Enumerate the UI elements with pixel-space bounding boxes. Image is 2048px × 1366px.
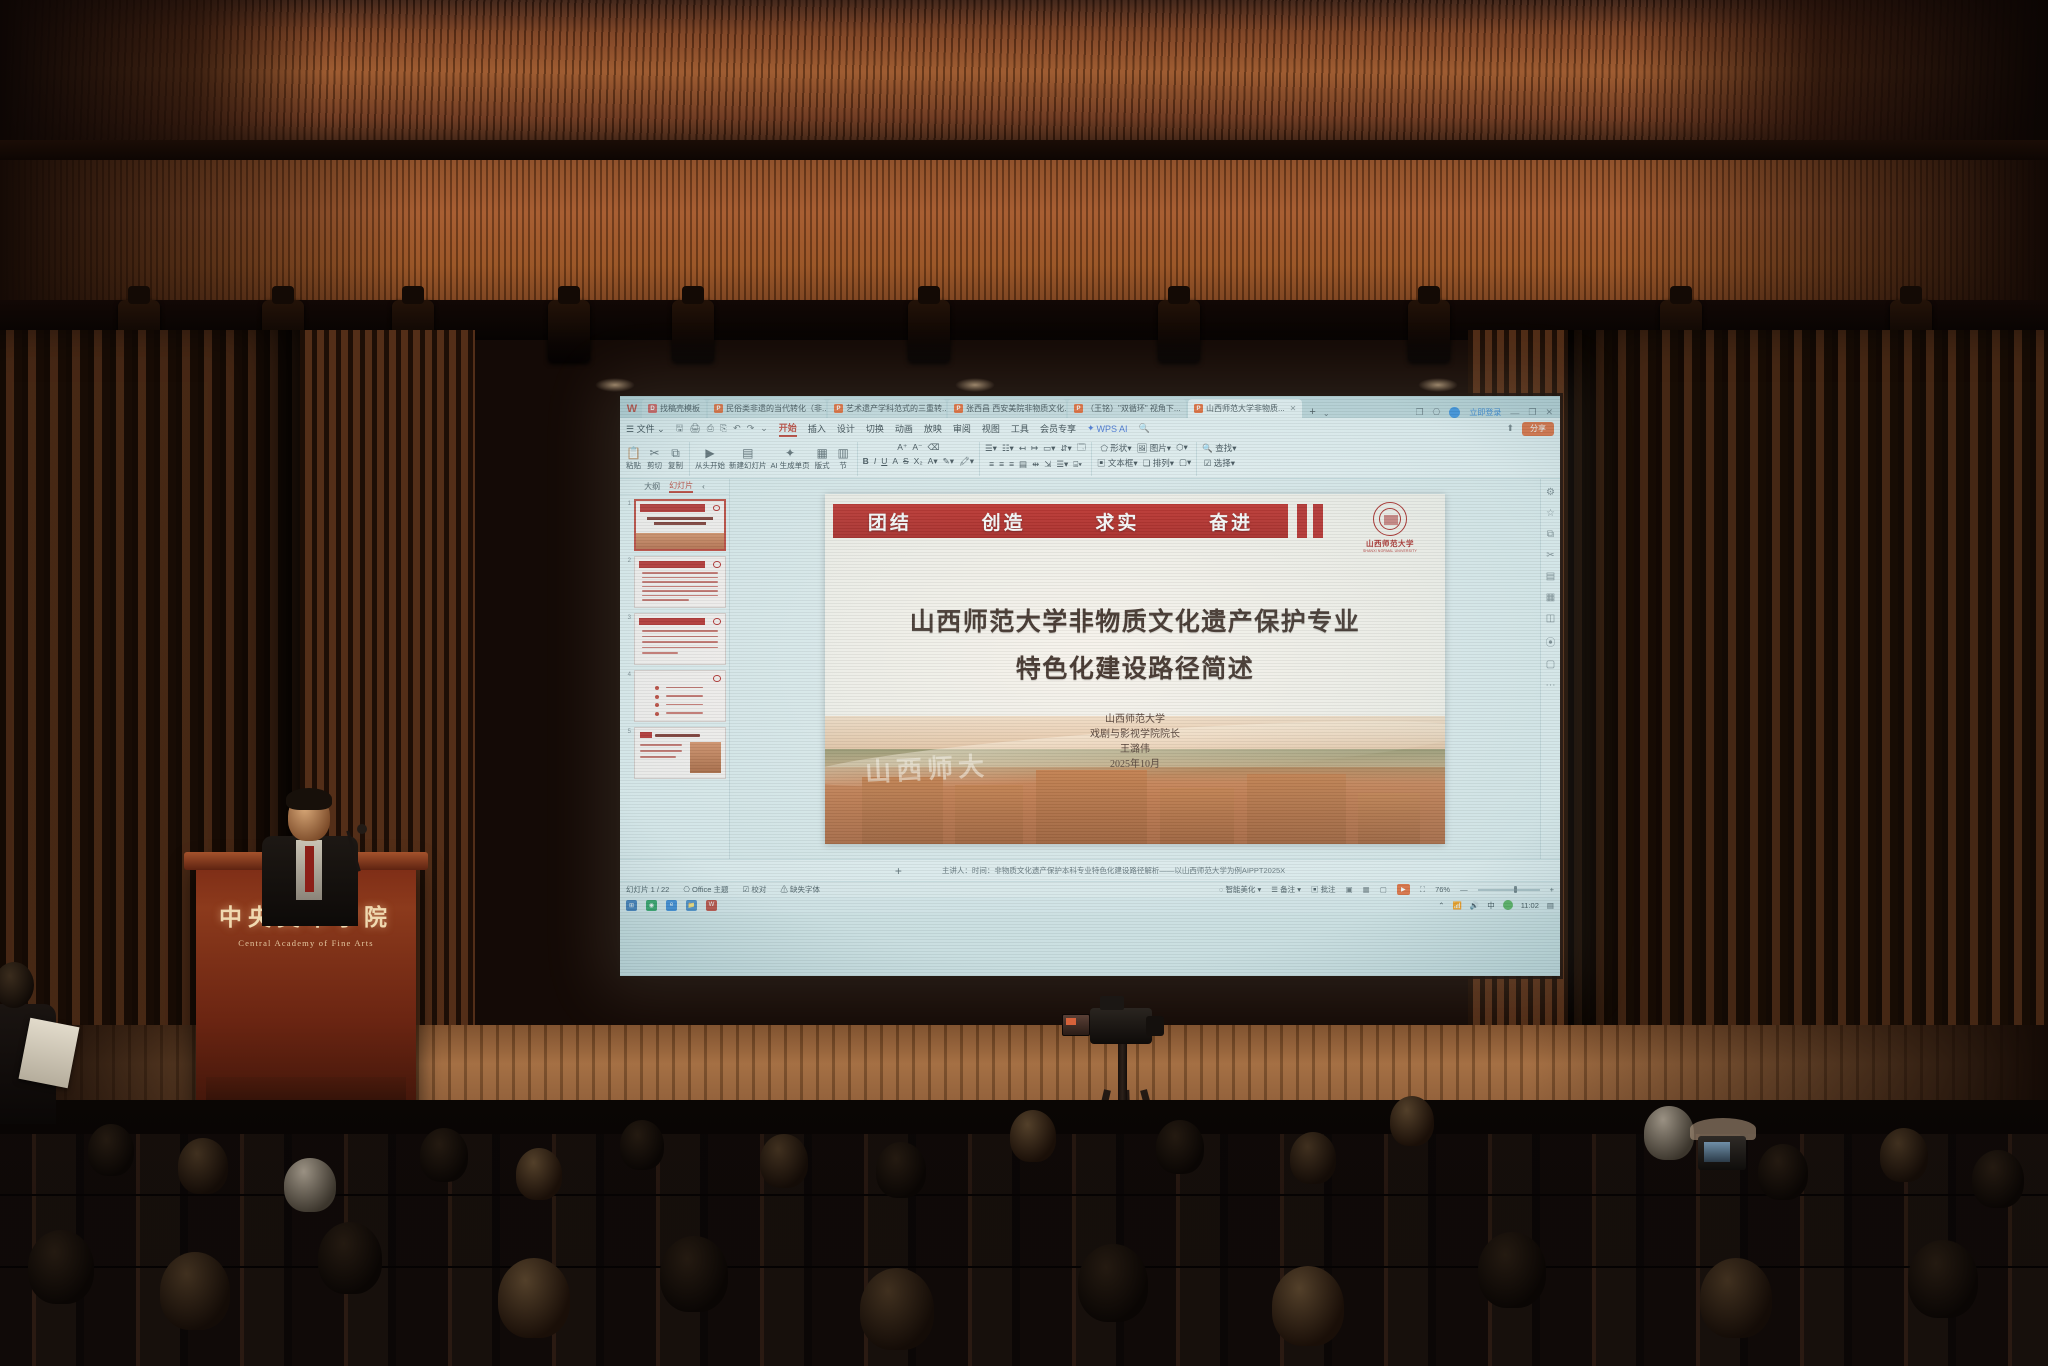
audience-head bbox=[516, 1148, 562, 1200]
notification-icon[interactable]: ▤ bbox=[1547, 901, 1554, 910]
thumb-banner bbox=[640, 504, 705, 511]
paste-icon: 📋 bbox=[626, 447, 641, 459]
textbox-label: 文本框 bbox=[1108, 458, 1134, 468]
audience-head bbox=[1290, 1132, 1336, 1184]
slide-thumbnail-3[interactable] bbox=[634, 613, 726, 665]
presentation-icon: P bbox=[954, 404, 963, 413]
layout-panel-icon[interactable]: ◫ bbox=[1546, 613, 1555, 624]
document-tab[interactable]: P 艺术遗产学科范式的三重转... bbox=[828, 399, 946, 418]
audience-head bbox=[318, 1222, 382, 1294]
reading-view-icon[interactable]: ▢ bbox=[1380, 885, 1387, 894]
columns-button[interactable]: ⇲ bbox=[1044, 459, 1051, 470]
audience-head bbox=[1972, 1150, 2024, 1208]
cut-button[interactable]: ✂ 剪切 bbox=[646, 447, 663, 471]
textbox-icon: ▣ bbox=[1097, 458, 1106, 468]
thumb-text-line bbox=[666, 695, 704, 697]
ai-generate-page-button[interactable]: ✦ AI 生成单页 bbox=[771, 447, 810, 471]
paste-label: 粘贴 bbox=[626, 460, 641, 471]
picture-label: 图片 bbox=[1150, 443, 1167, 453]
thumb-text-line bbox=[666, 687, 704, 689]
italic-button[interactable]: I bbox=[874, 456, 876, 466]
resource-icon[interactable]: ⧉ bbox=[1547, 529, 1554, 540]
tab-label: 民俗类非遗的当代转化（非... bbox=[726, 403, 826, 414]
save-icon[interactable]: 🖫 bbox=[676, 421, 684, 437]
smartart-button[interactable]: 🗔 bbox=[1077, 442, 1086, 456]
thumb-text-line bbox=[642, 647, 718, 649]
restore-window-icon[interactable]: ❐ bbox=[1415, 407, 1423, 418]
slide-thumbnail-1[interactable] bbox=[634, 499, 726, 551]
wifi-icon[interactable]: 📶 bbox=[1453, 901, 1462, 910]
audience-head bbox=[1272, 1266, 1344, 1346]
thumb-bullet bbox=[655, 712, 659, 716]
thumb-seal bbox=[713, 561, 721, 568]
thumb-text-line bbox=[642, 572, 718, 574]
slide-counter: 幻灯片 1 / 22 bbox=[626, 884, 669, 895]
stage-light bbox=[1408, 300, 1450, 362]
close-button[interactable]: ✕ bbox=[1545, 407, 1553, 418]
select-icon: ☑ bbox=[1204, 458, 1212, 468]
ai-sparkle-icon: ✦ bbox=[785, 447, 795, 459]
thumbnail-item[interactable]: 4 bbox=[623, 670, 726, 722]
menu-item-animation[interactable]: 动画 bbox=[895, 422, 913, 435]
start-icon[interactable]: ⊞ bbox=[626, 900, 637, 911]
tab-label: 艺术遗产学科范式的三重转... bbox=[846, 403, 946, 414]
seal-name: 山西师范大学 bbox=[1359, 538, 1421, 549]
thumb-text-line bbox=[640, 750, 681, 752]
document-tab[interactable]: P （王铭）"双循环" 视角下... bbox=[1068, 399, 1186, 418]
thumb-title-line bbox=[654, 522, 707, 525]
new-tab-button[interactable]: + bbox=[1304, 406, 1320, 418]
template-icon[interactable]: ▤ bbox=[1546, 571, 1555, 582]
play-slideshow-button[interactable]: ▶ bbox=[1397, 884, 1410, 895]
menu-item-insert[interactable]: 插入 bbox=[808, 422, 826, 435]
print-icon[interactable]: 🖨 bbox=[689, 423, 700, 434]
theme-label: Office 主题 bbox=[692, 885, 729, 894]
audience-head bbox=[160, 1252, 230, 1330]
title-line-1: 山西师范大学非物质文化遗产保护专业 bbox=[825, 602, 1445, 638]
align-left-button[interactable]: ≡ bbox=[989, 459, 994, 469]
stage-light bbox=[548, 300, 590, 362]
font-size-row: A⁺ A⁻ ⌫ bbox=[897, 442, 939, 453]
section-button[interactable]: ▥ 节 bbox=[835, 447, 852, 471]
tab-label: 山西师范大学非物质... bbox=[1206, 403, 1285, 414]
zoom-in-button[interactable]: + bbox=[1550, 885, 1554, 894]
seal-ring-icon bbox=[1373, 502, 1407, 536]
collapse-pane-icon[interactable]: ‹ bbox=[702, 482, 705, 491]
line-spacing-button[interactable]: ⇵▾ bbox=[1060, 443, 1071, 454]
presenter-block: 山西师范大学 戏剧与影视学院院长 王潞伟 2025年10月 bbox=[825, 712, 1445, 772]
thumb-bullet bbox=[655, 703, 659, 707]
find-button[interactable]: 🔍 查找▾ bbox=[1202, 442, 1236, 454]
insert-row-1: ⬠ 形状▾ 🖼 图片▾ ⬡▾ bbox=[1101, 442, 1188, 454]
spellcheck-indicator[interactable]: ☑ 校对 bbox=[743, 884, 767, 895]
light-glow bbox=[955, 378, 995, 392]
numbering-button[interactable]: ☷▾ bbox=[1002, 443, 1014, 454]
document-icon: D bbox=[648, 404, 657, 413]
stage-light bbox=[672, 300, 714, 362]
audience-head bbox=[1880, 1128, 1928, 1182]
notes-bar[interactable]: + 主讲人：时间：非物质文化遗产保护本科专业特色化建设路径解析——以山西师范大学… bbox=[620, 859, 1560, 881]
building-block bbox=[955, 785, 1023, 844]
find-label: 查找 bbox=[1215, 443, 1232, 453]
subscript-button[interactable]: X₂ bbox=[914, 456, 923, 466]
select-label: 选择 bbox=[1214, 458, 1231, 468]
stage-light bbox=[908, 300, 950, 362]
thumb-text-line bbox=[642, 636, 718, 638]
new-slide-button[interactable]: ▤ 新建幻灯片 bbox=[729, 447, 767, 471]
menu-item-view[interactable]: 视图 bbox=[982, 422, 1000, 435]
building-block bbox=[1247, 774, 1346, 844]
thumb-photo bbox=[690, 742, 721, 773]
highlight-button[interactable]: 🖍▾ bbox=[959, 456, 974, 467]
wps-presentation-window: W D 找稿壳模板 P 民俗类非遗的当代转化（非... P 艺术遗产学科范式的三… bbox=[620, 396, 1560, 976]
underline-button[interactable]: U bbox=[881, 456, 887, 466]
bullets-button[interactable]: ☰▾ bbox=[985, 443, 997, 454]
thumb-text-line bbox=[666, 712, 704, 714]
print-preview-icon[interactable]: ⎘ bbox=[720, 423, 727, 434]
zoom-slider[interactable] bbox=[1478, 889, 1540, 891]
fit-to-window-icon[interactable]: ⛶ bbox=[1420, 885, 1425, 895]
system-tray: ⌃ 📶 🔊 中 11:02 ▤ bbox=[1438, 900, 1554, 911]
motto-word-3: 求实 bbox=[1095, 508, 1139, 535]
thumbnail-item[interactable]: 1 bbox=[623, 499, 726, 551]
menu-item-review[interactable]: 审阅 bbox=[953, 422, 971, 435]
thumb-heading bbox=[655, 734, 700, 737]
slide-thumbnail-2[interactable] bbox=[634, 556, 726, 608]
light-glow bbox=[1418, 378, 1458, 392]
ribbon-group-slides: ▶ 从头开始 ▤ 新建幻灯片 ✦ AI 生成单页 ▦ 版式 bbox=[695, 442, 858, 476]
menu-item-tools[interactable]: 工具 bbox=[1011, 422, 1029, 435]
slide-thumbnail-5[interactable] bbox=[634, 727, 726, 779]
audience-head bbox=[28, 1230, 94, 1304]
document-tab[interactable]: P 张西昌 西安美院非物质文化... bbox=[948, 399, 1066, 418]
quick-access-toolbar: 🖫 🖨 ⎙ ⎘ ↶ ↷ ⌄ bbox=[676, 421, 768, 437]
clock[interactable]: 11:02 bbox=[1521, 901, 1539, 910]
minimize-button[interactable]: — bbox=[1510, 408, 1519, 418]
tripod-column bbox=[1118, 1040, 1127, 1102]
menu-file[interactable]: ☰ 文件 ⌄ bbox=[626, 422, 665, 435]
clear-format-icon[interactable]: ⌫ bbox=[928, 442, 940, 453]
explorer-icon[interactable]: 📁 bbox=[686, 900, 697, 911]
audience-head bbox=[88, 1124, 134, 1176]
copy-button[interactable]: ⧉ 复制 bbox=[667, 447, 684, 471]
text-shadow-button[interactable]: A bbox=[892, 456, 898, 466]
copy-icon: ⧉ bbox=[671, 447, 680, 459]
arrange-icon: ❏ bbox=[1143, 458, 1151, 468]
document-tab[interactable]: D 找稿壳模板 bbox=[642, 399, 706, 418]
section-icon: ▥ bbox=[838, 447, 849, 459]
slide-number: 2 bbox=[623, 556, 631, 564]
projection-screen: W D 找稿壳模板 P 民俗类非遗的当代转化（非... P 艺术遗产学科范式的三… bbox=[620, 396, 1560, 976]
chart-icon[interactable]: ▦ bbox=[1546, 592, 1555, 603]
tab-label: 张西昌 西安美院非物质文化... bbox=[966, 403, 1066, 414]
thumb-text-line bbox=[642, 599, 689, 601]
audience-head bbox=[1390, 1096, 1434, 1146]
increase-indent-button[interactable]: ↦ bbox=[1031, 443, 1038, 454]
tab-outline[interactable]: 大纲 bbox=[644, 481, 660, 492]
audience-head bbox=[1908, 1240, 1978, 1318]
slide-editing-area[interactable]: 团结 创造 求实 奋进 山西师范大学 SHANXI NORMAL bbox=[730, 479, 1540, 859]
titlebar-controls: ❐ ⎔ 立即登录 — ❐ ✕ bbox=[1415, 407, 1560, 418]
align-center-button[interactable]: ≡ bbox=[999, 459, 1004, 469]
ribbon-group-insert: ⬠ 形状▾ 🖼 图片▾ ⬡▾ ▣ 文本框▾ bbox=[1097, 442, 1197, 476]
arrange-label: 排列 bbox=[1153, 458, 1170, 468]
menu-item-design[interactable]: 设计 bbox=[837, 422, 855, 435]
redo-icon[interactable]: ↷ bbox=[747, 423, 755, 434]
window-tab-bar: W D 找稿壳模板 P 民俗类非遗的当代转化（非... P 艺术遗产学科范式的三… bbox=[620, 396, 1560, 418]
paragraph-row-1: ☰▾ ☷▾ ↤ ↦ ▭▾ ⇵▾ 🗔 bbox=[985, 442, 1086, 456]
slide-thumbnail-4[interactable] bbox=[634, 670, 726, 722]
distribute-button[interactable]: ⇹ bbox=[1032, 459, 1039, 470]
select-row: ☑ 选择▾ bbox=[1204, 457, 1235, 469]
settings-icon[interactable]: ⚙ bbox=[1546, 487, 1555, 498]
search-taskbar-icon[interactable]: ◉ bbox=[646, 900, 657, 911]
building-block bbox=[1160, 788, 1234, 844]
audience-head bbox=[620, 1120, 664, 1170]
decrease-indent-button[interactable]: ↤ bbox=[1019, 443, 1026, 454]
ribbon-group-clipboard: 📋 粘贴 ✂ 剪切 ⧉ 复制 bbox=[625, 442, 690, 476]
align-right-button[interactable]: ≡ bbox=[1009, 459, 1014, 469]
audience-head bbox=[1478, 1232, 1546, 1308]
thumb-text-line bbox=[642, 652, 678, 654]
chevron-down-icon[interactable]: ⌄ bbox=[1323, 409, 1330, 418]
icon-library-button[interactable]: ⬡▾ bbox=[1176, 442, 1188, 453]
motto-word-4: 奋进 bbox=[1209, 508, 1253, 535]
chevron-down-icon[interactable]: ⌄ bbox=[760, 423, 768, 434]
align-text-button[interactable]: ☰▾ bbox=[1056, 459, 1068, 470]
thumb-seal bbox=[713, 675, 721, 682]
wps-ai-label: WPS AI bbox=[1097, 424, 1128, 434]
audience-head bbox=[178, 1138, 228, 1194]
ceiling-shadow-right bbox=[1628, 0, 2048, 150]
notes-button[interactable]: ☰ 备注 ▾ bbox=[1271, 884, 1301, 895]
search-icon[interactable]: 🔍 bbox=[1139, 423, 1150, 434]
status-bar-right: ◌ 智能美化 ▾ ☰ 备注 ▾ ▣ 批注 ▣ ▦ ▢ ▶ ⛶ 76% — + bbox=[1219, 884, 1554, 895]
notes-label: 备注 bbox=[1280, 885, 1295, 894]
bold-button[interactable]: B bbox=[863, 456, 869, 466]
audience-head bbox=[860, 1268, 934, 1350]
shield-icon[interactable]: ⎔ bbox=[1433, 407, 1441, 418]
sparkle-icon: ✦ bbox=[1087, 423, 1095, 434]
spellcheck-label: 校对 bbox=[751, 885, 766, 894]
podium-sign-en: Central Academy of Fine Arts bbox=[216, 938, 396, 948]
accent-bar bbox=[1297, 504, 1307, 538]
thumb-tag bbox=[640, 732, 653, 738]
tab-label: （王铭）"双循环" 视角下... bbox=[1086, 403, 1181, 414]
thumb-text-line bbox=[642, 581, 718, 583]
presentation-icon: P bbox=[714, 404, 723, 413]
document-tab-active[interactable]: P 山西师范大学非物质... ✕ bbox=[1188, 399, 1302, 418]
audience-head bbox=[284, 1158, 336, 1212]
wps-ai-button[interactable]: ✦ WPS AI bbox=[1087, 423, 1128, 434]
beautify-button[interactable]: ◌ 智能美化 ▾ bbox=[1219, 884, 1261, 895]
current-slide[interactable]: 团结 创造 求实 奋进 山西师范大学 SHANXI NORMAL bbox=[825, 494, 1445, 844]
motto-word-1: 团结 bbox=[868, 508, 912, 535]
building-block bbox=[1358, 793, 1420, 844]
building-block bbox=[1036, 770, 1148, 844]
text-direction-button[interactable]: ▭▾ bbox=[1043, 443, 1055, 454]
video-camera-screen bbox=[1062, 1014, 1090, 1036]
audience-head bbox=[876, 1142, 926, 1198]
presentation-icon: P bbox=[1074, 404, 1083, 413]
favorite-icon[interactable]: ☆ bbox=[1546, 508, 1555, 519]
paste-button[interactable]: 📋 粘贴 bbox=[625, 447, 642, 471]
thumbnail-item[interactable]: 2 bbox=[623, 556, 726, 608]
select-button[interactable]: ☑ 选择▾ bbox=[1204, 457, 1235, 469]
cut-label: 剪切 bbox=[647, 460, 662, 471]
workspace: 大纲 幻灯片 ‹ 1 bbox=[620, 479, 1560, 859]
ceiling-shadow-left bbox=[0, 0, 330, 150]
thumb-text-line bbox=[640, 744, 681, 746]
increase-font-icon[interactable]: A⁺ bbox=[897, 442, 907, 453]
title-line-2: 特色化建设路径简述 bbox=[825, 649, 1445, 685]
menu-bar: ☰ 文件 ⌄ 🖫 🖨 ⎙ ⎘ ↶ ↷ ⌄ 开始 插入 设计 切换 动画 放映 审… bbox=[620, 418, 1560, 439]
audience-head bbox=[1700, 1258, 1772, 1338]
text-effect-button[interactable]: ✎▾ bbox=[943, 456, 954, 467]
layout-button[interactable]: ▦ 版式 bbox=[814, 447, 831, 471]
picture-icon: 🖼 bbox=[1137, 443, 1148, 453]
upload-icon[interactable]: ⬆ bbox=[1506, 423, 1514, 434]
export-pdf-icon[interactable]: ⎙ bbox=[707, 423, 714, 434]
normal-view-icon[interactable]: ▣ bbox=[1346, 885, 1353, 894]
slide-number: 4 bbox=[623, 670, 631, 678]
thumb-text-line bbox=[666, 704, 704, 706]
login-link[interactable]: 立即登录 bbox=[1469, 407, 1501, 418]
new-slide-icon: ▤ bbox=[742, 447, 753, 459]
help-icon[interactable]: ⦿ bbox=[1546, 634, 1556, 649]
more-icon[interactable]: ⋯ bbox=[1546, 680, 1556, 691]
thumbnail-item[interactable]: 3 bbox=[623, 613, 726, 665]
arrange-button[interactable]: ❏ 排列▾ bbox=[1143, 457, 1174, 469]
zoom-out-button[interactable]: — bbox=[1460, 885, 1468, 894]
shape-button[interactable]: ⬠ 形状▾ bbox=[1101, 442, 1132, 454]
close-icon[interactable]: ✕ bbox=[1290, 404, 1297, 413]
beautify-icon[interactable]: ✂ bbox=[1546, 550, 1554, 561]
presentation-date: 2025年10月 bbox=[825, 757, 1445, 772]
thumb-photo bbox=[636, 533, 724, 549]
justify-button[interactable]: ▤ bbox=[1019, 459, 1027, 470]
ribbon-group-editing: 🔍 查找▾ ☑ 选择▾ bbox=[1202, 442, 1241, 476]
thumb-text-line bbox=[642, 641, 718, 643]
right-sidebar-tools[interactable]: ⚙ ☆ ⧉ ✂ ▤ ▦ ◫ ⦿ ▢ ⋯ bbox=[1540, 479, 1560, 859]
undo-icon[interactable]: ↶ bbox=[733, 423, 741, 434]
audience-head bbox=[760, 1134, 808, 1188]
scissors-icon: ✂ bbox=[649, 447, 659, 459]
wechat-icon[interactable] bbox=[1503, 900, 1513, 910]
audience-head bbox=[660, 1236, 728, 1312]
slide-number: 1 bbox=[623, 499, 631, 507]
audience-head bbox=[1156, 1120, 1204, 1174]
menu-file-label: 文件 bbox=[637, 424, 655, 434]
beautify-label: 智能美化 bbox=[1225, 885, 1255, 894]
menu-item-transition[interactable]: 切换 bbox=[866, 422, 884, 435]
thumb-text-line bbox=[642, 595, 718, 597]
slide-motto-banner: 团结 创造 求实 奋进 bbox=[833, 504, 1288, 538]
zoom-level[interactable]: 76% bbox=[1435, 885, 1450, 894]
layout-icon: ▦ bbox=[817, 447, 828, 459]
missing-font-warning[interactable]: ⚠ 缺失字体 bbox=[780, 884, 820, 895]
presenter-role: 戏剧与影视学院院长 bbox=[825, 727, 1445, 742]
slide-thumbnail-pane: 大纲 幻灯片 ‹ 1 bbox=[620, 479, 730, 859]
document-tab[interactable]: P 民俗类非遗的当代转化（非... bbox=[708, 399, 826, 418]
slide-sorter-icon[interactable]: ▦ bbox=[1363, 885, 1370, 894]
avatar[interactable] bbox=[1449, 407, 1460, 418]
menu-item-slideshow[interactable]: 放映 bbox=[924, 422, 942, 435]
start-from-beginning-button[interactable]: ▶ 从头开始 bbox=[695, 447, 725, 471]
background-button[interactable]: ▢▾ bbox=[1179, 457, 1191, 468]
share-button[interactable]: 分享 bbox=[1522, 422, 1554, 436]
feedback-icon[interactable]: ▢ bbox=[1546, 659, 1555, 670]
light-glow bbox=[595, 378, 635, 392]
thumb-text-line bbox=[640, 756, 676, 758]
textbox-button[interactable]: ▣ 文本框▾ bbox=[1097, 457, 1138, 469]
add-note-icon[interactable]: + bbox=[895, 864, 902, 878]
audience-head bbox=[1078, 1244, 1148, 1322]
slide-title: 山西师范大学非物质文化遗产保护专业 特色化建设路径简述 bbox=[825, 602, 1445, 685]
convert-smartart-button[interactable]: ⌸▾ bbox=[1073, 459, 1082, 470]
paragraph-row-2: ≡ ≡ ≡ ▤ ⇹ ⇲ ☰▾ ⌸▾ bbox=[989, 459, 1082, 470]
stage-light bbox=[1158, 300, 1200, 362]
comments-button[interactable]: ▣ 批注 bbox=[1311, 884, 1336, 895]
presentation-icon: P bbox=[1194, 404, 1203, 413]
speaker-hair bbox=[286, 788, 332, 810]
font-color-button[interactable]: A▾ bbox=[928, 456, 938, 467]
slide-number: 3 bbox=[623, 613, 631, 621]
maximize-button[interactable]: ❐ bbox=[1528, 407, 1536, 418]
decrease-font-icon[interactable]: A⁻ bbox=[912, 442, 922, 453]
audience-head bbox=[1758, 1144, 1808, 1200]
ime-indicator[interactable]: 中 bbox=[1487, 900, 1495, 911]
thumbnail-item[interactable]: 5 bbox=[623, 727, 726, 779]
motto-word-2: 创造 bbox=[982, 508, 1026, 535]
auditorium-scene: W D 找稿壳模板 P 民俗类非遗的当代转化（非... P 艺术遗产学科范式的三… bbox=[0, 0, 2048, 1366]
start-label: 从头开始 bbox=[695, 460, 725, 471]
presenter-org: 山西师范大学 bbox=[825, 712, 1445, 727]
theme-indicator[interactable]: ⎔ Office 主题 bbox=[683, 884, 728, 895]
font-style-row: B I U A S X₂ A▾ ✎▾ 🖍▾ bbox=[863, 456, 974, 467]
thumb-bullet bbox=[655, 686, 659, 690]
volume-icon[interactable]: 🔊 bbox=[1470, 901, 1479, 910]
ribbon-group-paragraph: ☰▾ ☷▾ ↤ ↦ ▭▾ ⇵▾ 🗔 ≡ ≡ ≡ ▤ ⇹ ⇲ bbox=[985, 442, 1092, 476]
play-icon: ▶ bbox=[705, 447, 714, 459]
presentation-icon: P bbox=[834, 404, 843, 413]
audience-head bbox=[420, 1128, 468, 1182]
thumbnail-list[interactable]: 1 2 bbox=[620, 495, 729, 859]
status-bar: 幻灯片 1 / 22 ⎔ Office 主题 ☑ 校对 ⚠ 缺失字体 ◌ 智能美… bbox=[620, 881, 1560, 897]
ribbon-toolbar: 📋 粘贴 ✂ 剪切 ⧉ 复制 ▶ 从头开始 bbox=[620, 439, 1560, 479]
layout-label: 版式 bbox=[815, 460, 830, 471]
menu-item-start[interactable]: 开始 bbox=[779, 421, 797, 437]
strikethrough-button[interactable]: S bbox=[903, 456, 909, 466]
picture-button[interactable]: 🖼 图片▾ bbox=[1137, 442, 1171, 454]
slide-number: 5 bbox=[623, 727, 631, 735]
thumb-banner bbox=[639, 618, 706, 626]
shape-icon: ⬠ bbox=[1101, 443, 1108, 453]
edge-icon[interactable]: e bbox=[666, 900, 677, 911]
video-camera-lens bbox=[1146, 1016, 1164, 1036]
chevron-up-icon[interactable]: ⌃ bbox=[1438, 901, 1444, 910]
thumb-bullet bbox=[655, 695, 659, 699]
comments-label: 批注 bbox=[1321, 885, 1336, 894]
thumb-text-line bbox=[642, 630, 718, 632]
tab-slides[interactable]: 幻灯片 bbox=[669, 480, 693, 493]
menu-item-member[interactable]: 会员专享 bbox=[1040, 422, 1076, 435]
ai-generate-label: AI 生成单页 bbox=[771, 460, 810, 471]
video-camera-handle bbox=[1100, 996, 1124, 1010]
wps-taskbar-icon[interactable]: W bbox=[706, 900, 717, 911]
copy-label: 复制 bbox=[668, 460, 683, 471]
thumb-seal bbox=[713, 618, 721, 625]
